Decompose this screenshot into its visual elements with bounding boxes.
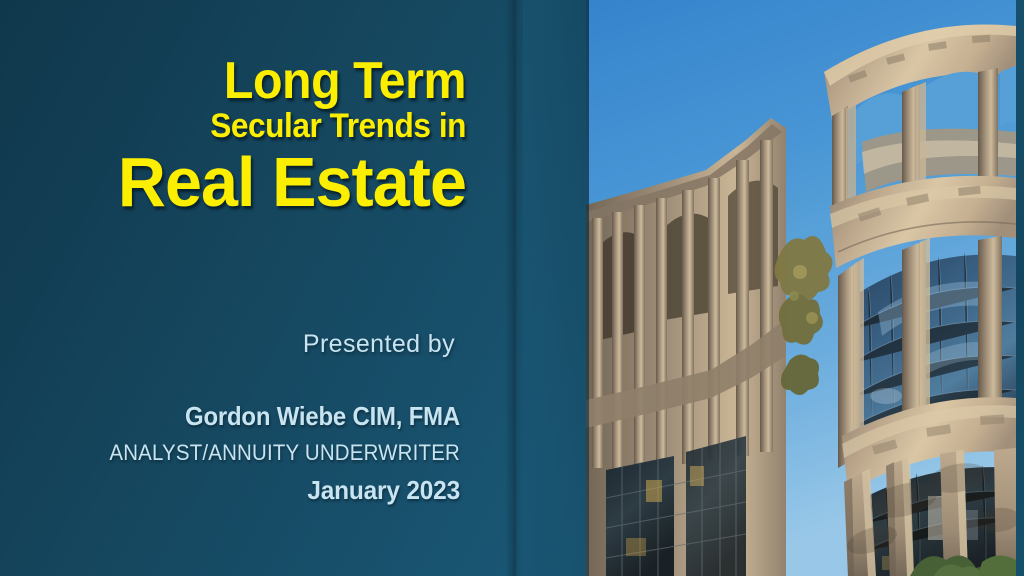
presentation-date: January 2023	[28, 475, 460, 506]
title-slide: Long Term Secular Trends in Real Estate …	[0, 0, 1024, 576]
right-edge-strip	[1016, 0, 1024, 576]
background-vertical-seam	[505, 0, 523, 576]
presenter-role: ANALYST/ANNUITY UNDERWRITER	[32, 440, 460, 466]
presented-by-label: Presented by	[0, 330, 460, 359]
building-photograph	[586, 0, 1016, 576]
title-line-1: Long Term	[33, 55, 466, 109]
presenter-name: Gordon Wiebe CIM, FMA	[37, 401, 460, 432]
building-photo-illustration	[586, 0, 1016, 576]
photo-left-edge-shadow	[586, 0, 589, 576]
presenter-info: Presented by Gordon Wiebe CIM, FMA ANALY…	[0, 330, 460, 506]
title-line-3: Real Estate	[23, 147, 466, 217]
background-right-tint	[523, 0, 590, 576]
slide-title: Long Term Secular Trends in Real Estate	[0, 55, 466, 217]
presenter-spacer	[0, 359, 460, 401]
title-line-2: Secular Trends in	[33, 109, 466, 147]
